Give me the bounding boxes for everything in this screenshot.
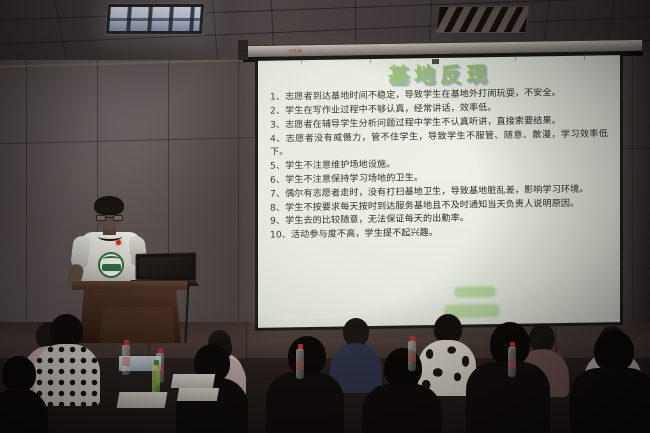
- list-item: [362, 348, 442, 433]
- laptop-lid: [135, 252, 196, 282]
- audience: [0, 300, 650, 433]
- attendee-head: [343, 318, 369, 346]
- slide-body: 1、志愿者到达基地时间不稳定，导致学生在基地外打闹玩耍，不安全。 2、学生在写作…: [268, 86, 612, 243]
- text-highlight: [454, 286, 496, 298]
- attendee-body: [362, 384, 442, 433]
- podium-top: [72, 281, 188, 290]
- badge-pin-icon: [116, 240, 121, 245]
- lecture-hall-photo: 投影幕 基地反现 1、志愿者到达基地时间不稳定，导致学生在基地外打闹玩耍，不安全…: [0, 0, 650, 433]
- hvac-vent-icon: [435, 6, 529, 33]
- attendee-head: [384, 348, 422, 388]
- attendee-head: [594, 330, 634, 372]
- laptop-screen: [139, 256, 192, 277]
- attendee-head: [50, 314, 83, 348]
- lamp-diffuser: [109, 7, 201, 31]
- water-bottle: [408, 336, 416, 370]
- attendee-body: [570, 368, 650, 433]
- slide-title: 基地反现: [268, 60, 612, 90]
- attendee-body: [0, 388, 48, 433]
- glasses-icon: [96, 215, 123, 221]
- attendee-head: [288, 336, 326, 376]
- handout-paper: [171, 374, 215, 388]
- list-item: [570, 330, 650, 433]
- projection-screen: 基地反现 1、志愿者到达基地时间不稳定，导致学生在基地外打闹玩耍，不安全。 2、…: [258, 55, 620, 328]
- housing-label: 投影幕: [289, 48, 302, 54]
- water-bottle: [122, 340, 130, 376]
- attendee-body: [266, 372, 344, 433]
- handout-paper: [117, 392, 168, 408]
- list-item: [266, 336, 344, 433]
- water-bottle: [508, 342, 516, 376]
- attendee-head: [2, 356, 36, 392]
- water-bottle: [296, 344, 304, 378]
- list-item: [0, 356, 46, 433]
- presenter-hair-fringe: [95, 205, 123, 213]
- shirt-logo-icon: [98, 252, 124, 278]
- list-item: [466, 322, 550, 433]
- screen-mount: [238, 40, 248, 60]
- handout-paper: [177, 388, 219, 401]
- fluorescent-light-icon: [105, 3, 205, 35]
- slide-content: 基地反现 1、志愿者到达基地时间不稳定，导致学生在基地外打闹玩耍，不安全。 2、…: [258, 55, 620, 328]
